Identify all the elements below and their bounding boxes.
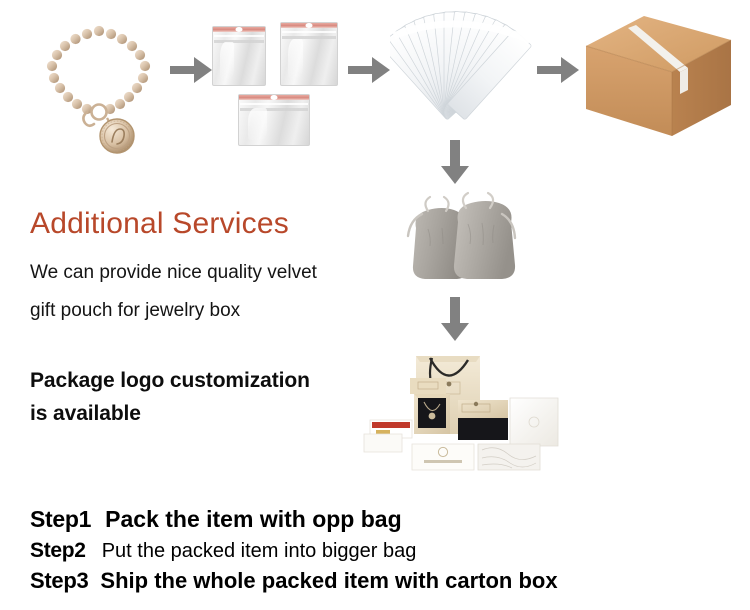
logo-customization-line-1: Package logo customization [30, 370, 310, 391]
logo-customization-line-2: is available [30, 403, 141, 424]
step-1-text: Pack the item with opp bag [105, 508, 401, 531]
carton-box-icon [576, 10, 736, 150]
additional-services-paragraph-line-2: gift pouch for jewelry box [30, 301, 240, 320]
packaging-infographic: Additional Services We can provide nice … [0, 0, 750, 610]
page-title-additional-services: Additional Services [30, 209, 289, 239]
opp-bags-icon [208, 12, 338, 147]
step-1-label: Step1 [30, 508, 91, 531]
arrow-right-icon [170, 57, 212, 83]
step-2-text: Put the packed item into bigger bag [102, 541, 417, 561]
arrow-right-icon [348, 57, 390, 83]
step-3-label: Step3 [30, 570, 88, 592]
arrow-down-icon [441, 140, 469, 184]
arrow-down-icon [441, 297, 469, 341]
step-row-2: Step2 Put the packed item into bigger ba… [30, 540, 416, 561]
step-row-3: Step3 Ship the whole packed item with ca… [30, 570, 558, 592]
additional-services-paragraph-line-1: We can provide nice quality velvet [30, 263, 317, 282]
step-row-1: Step1 Pack the item with opp bag [30, 508, 402, 531]
step-2-label: Step2 [30, 540, 86, 561]
bag-stack-icon [390, 6, 535, 136]
jewelry-packaging-set-icon [358, 338, 563, 483]
step-3-text: Ship the whole packed item with carton b… [100, 570, 557, 592]
velvet-pouches-icon [398, 188, 518, 299]
arrow-right-icon [537, 57, 579, 83]
bracelet-jewelry-icon [24, 8, 174, 158]
